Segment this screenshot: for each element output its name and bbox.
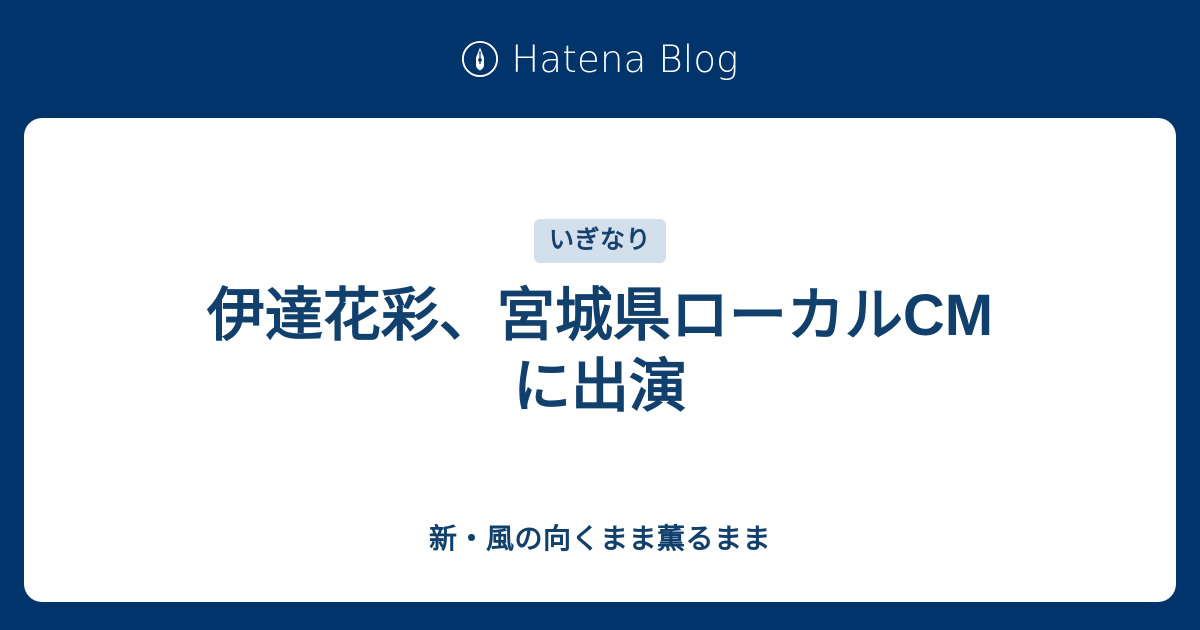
entry-card: いぎなり 伊達花彩、宮城県ローカルCMに出演 新・風の向くまま薫るまま [24,118,1176,602]
og-image-canvas: Hatena Blog いぎなり 伊達花彩、宮城県ローカルCMに出演 新・風の向… [0,0,1200,630]
hatena-pen-nib-icon [461,40,499,78]
hatena-blog-brand: Hatena Blog [0,0,1200,118]
entry-tag-chip[interactable]: いぎなり [534,219,666,263]
hatena-blog-brand-name: Hatena Blog [511,41,738,78]
entry-card-inner: いぎなり 伊達花彩、宮城県ローカルCMに出演 新・風の向くまま薫るまま [24,118,1176,602]
entry-title: 伊達花彩、宮城県ローカルCMに出演 [185,281,1015,423]
blog-name: 新・風の向くまま薫るまま [150,521,1050,557]
entry-tag-row: いぎなり [534,219,666,263]
